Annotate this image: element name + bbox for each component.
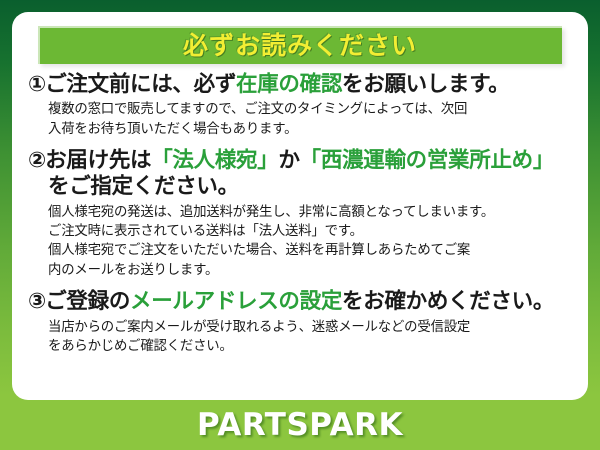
item-3-sub-line-2: をあらかじめご確認ください。 <box>48 337 572 356</box>
item-3-head-before: ご登録の <box>45 289 130 314</box>
item-2-sub-line-1: 個人様宅宛の発送は、追加送料が発生し、非常に高額となってしまいます。 <box>48 203 572 222</box>
brand-logo-text: PARTSPARK <box>197 410 403 441</box>
item-number-2: ② <box>28 148 45 173</box>
notice-item-3: ③ご登録のメールアドレスの設定をお確かめください。 当店からのご案内メールが受け… <box>28 289 572 356</box>
item-2-head-highlight: 「法人様宛」 <box>151 148 278 173</box>
item-2-head-before: お届け先は <box>45 148 151 173</box>
item-2-sub-line-2: ご注文時に表示されている送料は「法人送料」です。 <box>48 222 572 241</box>
notice-item-3-body: 当店からのご案内メールが受け取れるよう、迷惑メールなどの受信設定 をあらかじめご… <box>48 318 572 357</box>
item-1-head-before: ご注文前には、必ず <box>45 72 236 97</box>
item-3-head-highlight: メールアドレスの設定 <box>130 289 342 314</box>
item-1-head-highlight: 在庫の確認 <box>236 72 342 97</box>
header-banner: 必ずお読みください <box>38 26 562 64</box>
notice-item-1: ①ご注文前には、必ず在庫の確認をお願いします。 複数の窓口で販売してますので、ご… <box>28 72 572 139</box>
notice-item-2-heading: ②お届け先は「法人様宛」か「西濃運輸の営業所止め」 をご指定ください。 <box>28 148 572 200</box>
item-1-head-after: をお願いします。 <box>342 72 509 97</box>
notice-item-3-heading: ③ご登録のメールアドレスの設定をお確かめください。 <box>28 289 572 315</box>
notice-item-2: ②お届け先は「法人様宛」か「西濃運輸の営業所止め」 をご指定ください。 個人様宅… <box>28 148 572 280</box>
item-number-3: ③ <box>28 289 45 314</box>
item-3-head-after: をお確かめください。 <box>342 289 554 314</box>
footer-brand-bar: PARTSPARK <box>0 400 600 450</box>
item-1-sub-line-2: 入荷をお待ち頂いただく場合もあります。 <box>48 120 572 139</box>
notice-items-list: ①ご注文前には、必ず在庫の確認をお願いします。 複数の窓口で販売してますので、ご… <box>26 70 574 356</box>
notice-item-2-body: 個人様宅宛の発送は、追加送料が発生し、非常に高額となってしまいます。 ご注文時に… <box>48 203 572 281</box>
notice-item-1-body: 複数の窓口で販売してますので、ご注文のタイミングによっては、次回 入荷をお待ち頂… <box>48 100 572 139</box>
notice-card: 必ずお読みください ①ご注文前には、必ず在庫の確認をお願いします。 複数の窓口で… <box>12 12 588 400</box>
item-3-sub-line-1: 当店からのご案内メールが受け取れるよう、迷惑メールなどの受信設定 <box>48 318 572 337</box>
notice-panel: 必ずお読みください ①ご注文前には、必ず在庫の確認をお願いします。 複数の窓口で… <box>0 0 600 450</box>
item-2-head-highlight-2: 「西濃運輸の営業所止め」 <box>300 148 554 173</box>
item-2-head-line-2: をご指定ください。 <box>48 174 572 200</box>
banner-title: 必ずお読みください <box>183 33 417 58</box>
item-2-head-middle: か <box>278 148 299 173</box>
item-1-sub-line-1: 複数の窓口で販売してますので、ご注文のタイミングによっては、次回 <box>48 100 572 119</box>
notice-item-1-heading: ①ご注文前には、必ず在庫の確認をお願いします。 <box>28 72 572 98</box>
item-2-sub-line-3: 個人様宅宛でご注文をいただいた場合、送料を再計算しあらためてご案 <box>48 241 572 260</box>
item-2-sub-line-4: 内のメールをお送りします。 <box>48 261 572 280</box>
item-number-1: ① <box>28 72 45 97</box>
